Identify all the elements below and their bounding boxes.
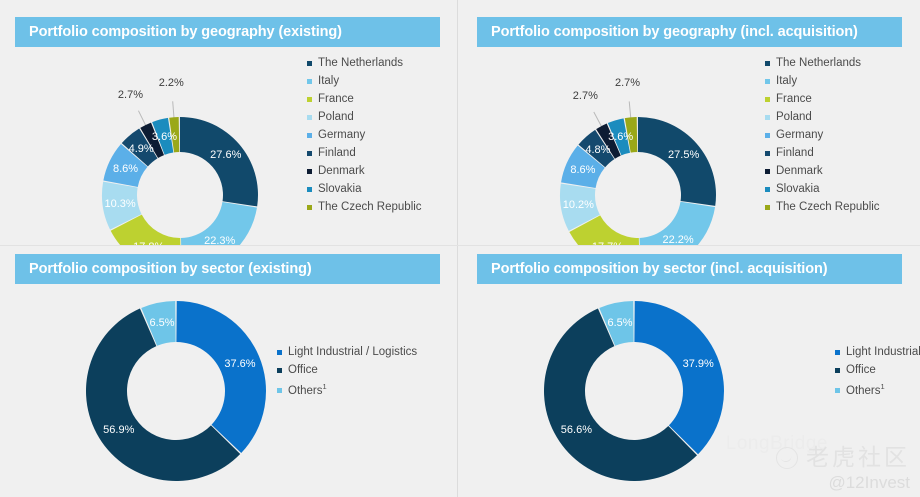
legend-item[interactable]: Denmark <box>765 166 880 178</box>
legend-label: Others1 <box>288 383 327 397</box>
legend-item[interactable]: Germany <box>307 130 422 142</box>
legend-swatch-icon <box>277 368 282 373</box>
legend-label: Denmark <box>318 166 365 178</box>
legend-item[interactable]: Slovakia <box>765 184 880 196</box>
legend-label: Office <box>288 365 318 377</box>
panel-title-bar-geography-existing: Portfolio composition by geography (exis… <box>15 17 440 47</box>
legend-swatch-icon <box>765 61 770 66</box>
legend-label: Italy <box>318 76 339 88</box>
legend-item[interactable]: Denmark <box>307 166 422 178</box>
panel-title-bar-sector-acquisition: Portfolio composition by sector (incl. a… <box>477 254 902 284</box>
donut-sector-acquisition <box>542 299 726 483</box>
legend-swatch-icon <box>765 169 770 174</box>
legend-geography-acquisition: The NetherlandsItalyFrancePolandGermanyF… <box>765 58 880 220</box>
chart-geography-existing: The NetherlandsItalyFrancePolandGermanyF… <box>0 47 457 245</box>
legend-sector-existing: Light Industrial / LogisticsOfficeOthers… <box>277 347 417 404</box>
legend-label: Denmark <box>776 166 823 178</box>
legend-label: France <box>776 94 812 106</box>
legend-label: Light Industrial / Logistics <box>288 347 417 359</box>
legend-swatch-icon <box>835 388 840 393</box>
panel-geography-acquisition: Portfolio composition by geography (incl… <box>458 0 920 245</box>
legend-item[interactable]: Others1 <box>835 383 920 397</box>
slice-value-label: 2.7% <box>118 89 143 101</box>
legend-label: Slovakia <box>318 184 361 196</box>
legend-swatch-icon <box>765 151 770 156</box>
legend-item[interactable]: Finland <box>765 148 880 160</box>
legend-label: Poland <box>318 112 354 124</box>
panel-title-geography-acquisition: Portfolio composition by geography (incl… <box>477 24 858 40</box>
legend-item[interactable]: Others1 <box>277 383 417 397</box>
watermark-ghost-text: LongBridge <box>726 434 828 453</box>
legend-swatch-icon <box>277 350 282 355</box>
panel-sector-acquisition: Portfolio composition by sector (incl. a… <box>458 246 920 497</box>
legend-label: Others1 <box>846 383 885 397</box>
donut-geography-acquisition <box>558 115 718 245</box>
legend-label: Light Industrial / Logistics <box>846 347 920 359</box>
slice-value-label: 2.7% <box>573 90 598 102</box>
pie-slice <box>640 202 716 245</box>
legend-label: Office <box>846 365 876 377</box>
legend-swatch-icon <box>307 61 312 66</box>
legend-footnote-marker: 1 <box>881 382 885 391</box>
legend-label: The Czech Republic <box>776 202 880 214</box>
legend-swatch-icon <box>765 97 770 102</box>
legend-item[interactable]: Slovakia <box>307 184 422 196</box>
legend-label: Germany <box>318 130 365 142</box>
pie-slice <box>176 301 266 453</box>
legend-swatch-icon <box>307 133 312 138</box>
legend-swatch-icon <box>765 187 770 192</box>
donut-geography-existing <box>100 115 260 245</box>
legend-item[interactable]: Poland <box>307 112 422 124</box>
legend-item[interactable]: The Czech Republic <box>307 202 422 214</box>
legend-swatch-icon <box>277 388 282 393</box>
legend-label: Finland <box>318 148 356 160</box>
slice-value-label: 2.2% <box>159 77 184 89</box>
slice-value-label: 2.7% <box>615 77 640 89</box>
panel-sector-existing: Portfolio composition by sector (existin… <box>0 246 457 497</box>
legend-swatch-icon <box>307 79 312 84</box>
chart-sector-acquisition: Light Industrial / LogisticsOfficeOthers… <box>458 284 920 497</box>
legend-label: The Netherlands <box>776 58 861 70</box>
legend-swatch-icon <box>307 115 312 120</box>
panel-title-sector-existing: Portfolio composition by sector (existin… <box>15 261 312 277</box>
legend-item[interactable]: France <box>307 94 422 106</box>
legend-swatch-icon <box>765 205 770 210</box>
legend-swatch-icon <box>835 350 840 355</box>
legend-geography-existing: The NetherlandsItalyFrancePolandGermanyF… <box>307 58 422 220</box>
legend-item[interactable]: Light Industrial / Logistics <box>277 347 417 359</box>
legend-item[interactable]: Light Industrial / Logistics <box>835 347 920 359</box>
panel-title-bar-sector-existing: Portfolio composition by sector (existin… <box>15 254 440 284</box>
pie-slice <box>181 202 257 245</box>
pie-slice <box>634 301 724 454</box>
legend-label: Poland <box>776 112 812 124</box>
legend-item[interactable]: Germany <box>765 130 880 142</box>
panel-geography-existing: Portfolio composition by geography (exis… <box>0 0 457 245</box>
chart-sector-existing: Light Industrial / LogisticsOfficeOthers… <box>0 284 457 497</box>
legend-swatch-icon <box>307 97 312 102</box>
legend-swatch-icon <box>307 205 312 210</box>
legend-label: Finland <box>776 148 814 160</box>
legend-swatch-icon <box>307 187 312 192</box>
legend-item[interactable]: Poland <box>765 112 880 124</box>
legend-item[interactable]: Italy <box>765 76 880 88</box>
legend-swatch-icon <box>307 151 312 156</box>
legend-item[interactable]: The Netherlands <box>765 58 880 70</box>
panel-title-sector-acquisition: Portfolio composition by sector (incl. a… <box>477 261 827 277</box>
chart-geography-acquisition: The NetherlandsItalyFrancePolandGermanyF… <box>458 47 920 245</box>
legend-item[interactable]: France <box>765 94 880 106</box>
legend-label: Germany <box>776 130 823 142</box>
legend-item[interactable]: The Czech Republic <box>765 202 880 214</box>
dashboard-grid: Portfolio composition by geography (exis… <box>0 0 920 497</box>
legend-item[interactable]: The Netherlands <box>307 58 422 70</box>
legend-label: The Netherlands <box>318 58 403 70</box>
legend-label: France <box>318 94 354 106</box>
legend-item[interactable]: Italy <box>307 76 422 88</box>
panel-title-bar-geography-acquisition: Portfolio composition by geography (incl… <box>477 17 902 47</box>
legend-item[interactable]: Office <box>277 365 417 377</box>
legend-swatch-icon <box>835 368 840 373</box>
legend-item[interactable]: Finland <box>307 148 422 160</box>
legend-label: The Czech Republic <box>318 202 422 214</box>
legend-swatch-icon <box>307 169 312 174</box>
legend-label: Italy <box>776 76 797 88</box>
legend-label: Slovakia <box>776 184 819 196</box>
pie-slice <box>180 117 258 206</box>
panel-title-geography-existing: Portfolio composition by geography (exis… <box>15 24 342 40</box>
legend-footnote-marker: 1 <box>323 382 327 391</box>
legend-item[interactable]: Office <box>835 365 920 377</box>
legend-swatch-icon <box>765 133 770 138</box>
legend-swatch-icon <box>765 79 770 84</box>
pie-slice <box>638 117 716 206</box>
donut-sector-existing <box>84 299 268 483</box>
legend-sector-acquisition: Light Industrial / LogisticsOfficeOthers… <box>835 347 920 404</box>
legend-swatch-icon <box>765 115 770 120</box>
